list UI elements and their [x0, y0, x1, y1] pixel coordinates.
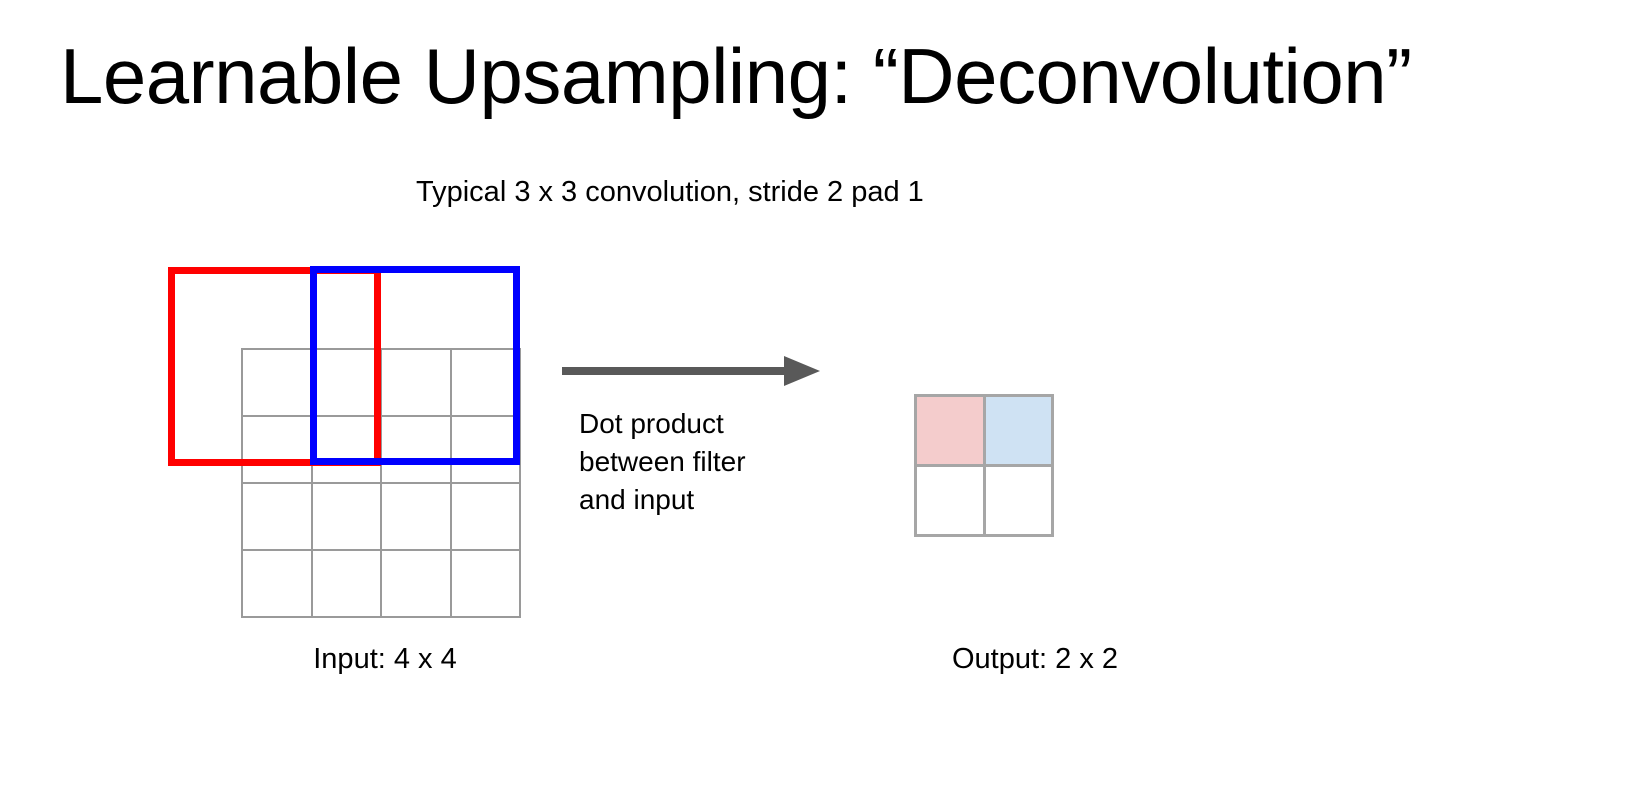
- input-cell-r3c2: [382, 551, 452, 618]
- output-cell-r1c1: [986, 467, 1055, 537]
- input-cell-r3c1: [313, 551, 383, 618]
- input-grid-label: Input: 4 x 4: [230, 640, 540, 678]
- blue-filter-window: [310, 266, 520, 465]
- input-cell-r3c0: [243, 551, 313, 618]
- slide-canvas: Learnable Upsampling: “Deconvolution” Ty…: [0, 0, 1648, 792]
- output-grid-label: Output: 2 x 2: [880, 640, 1190, 678]
- output-cell-r0c0: [917, 397, 986, 467]
- dot-product-caption: Dot product between filter and input: [579, 405, 809, 519]
- page-title: Learnable Upsampling: “Deconvolution”: [60, 28, 1600, 124]
- output-grid: [914, 394, 1054, 537]
- input-cell-r2c2: [382, 484, 452, 551]
- input-cell-r2c1: [313, 484, 383, 551]
- caption-line-2: between filter: [579, 443, 809, 481]
- output-cell-r1c0: [917, 467, 986, 537]
- caption-line-3: and input: [579, 481, 809, 519]
- slide-subtitle: Typical 3 x 3 convolution, stride 2 pad …: [416, 172, 924, 212]
- output-cell-r0c1: [986, 397, 1055, 467]
- flow-arrow-icon: [560, 354, 822, 388]
- caption-line-1: Dot product: [579, 405, 809, 443]
- input-cell-r2c3: [452, 484, 522, 551]
- input-cell-r3c3: [452, 551, 522, 618]
- input-cell-r2c0: [243, 484, 313, 551]
